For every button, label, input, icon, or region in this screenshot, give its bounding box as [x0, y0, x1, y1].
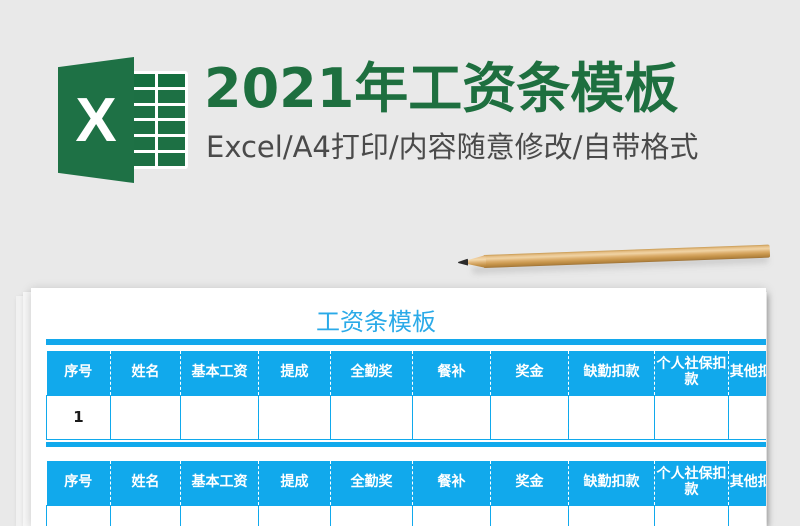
salary-strip-1: 序号 姓名 基本工资 提成 全勤奖 餐补 奖金 缺勤扣款 个人社保扣款 其他扣款… — [46, 351, 766, 447]
salary-strip-2: 序号 姓名 基本工资 提成 全勤奖 餐补 奖金 缺勤扣款 个人社保扣款 其他扣款 — [46, 461, 766, 526]
wooden-pencil — [458, 237, 771, 274]
column-header-seq: 序号 — [47, 461, 111, 505]
salary-table: 序号 姓名 基本工资 提成 全勤奖 餐补 奖金 缺勤扣款 个人社保扣款 其他扣款… — [46, 351, 766, 440]
pencil-tip — [458, 259, 468, 266]
excel-logo-cell — [158, 74, 186, 87]
cell-bonus[interactable] — [491, 505, 569, 526]
column-header-meal-allowance: 餐补 — [413, 461, 491, 505]
strip-divider-rule — [46, 442, 766, 447]
column-header-attendance-bonus: 全勤奖 — [331, 351, 413, 395]
cell-meal-allowance[interactable] — [413, 395, 491, 439]
document-page: 工资条模板 序号 姓名 基本工资 提成 全勤奖 餐补 奖金 缺勤扣款 个人社 — [31, 288, 766, 526]
column-header-name: 姓名 — [111, 461, 181, 505]
cell-base-salary[interactable] — [181, 395, 259, 439]
cell-absence-deduction[interactable] — [569, 395, 655, 439]
column-header-bonus: 奖金 — [491, 461, 569, 505]
column-header-absence-deduction: 缺勤扣款 — [569, 461, 655, 505]
column-header-base-salary: 基本工资 — [181, 351, 259, 395]
excel-logo-letter: X — [58, 57, 134, 183]
column-header-name: 姓名 — [111, 351, 181, 395]
banner-subtitle: Excel/A4打印/内容随意修改/自带格式 — [206, 133, 698, 162]
banner-title: 2021年工资条模板 — [204, 62, 678, 116]
salary-table: 序号 姓名 基本工资 提成 全勤奖 餐补 奖金 缺勤扣款 个人社保扣款 其他扣款 — [46, 461, 766, 526]
column-header-social-insurance-deduction: 个人社保扣款 — [655, 351, 729, 395]
cell-attendance-bonus[interactable] — [331, 505, 413, 526]
excel-logo-cell — [158, 137, 186, 150]
cell-social-insurance-deduction[interactable] — [655, 395, 729, 439]
column-header-commission: 提成 — [259, 461, 331, 505]
cell-bonus[interactable] — [491, 395, 569, 439]
excel-logo-icon: X — [58, 57, 194, 183]
promo-banner: X 2021年工资条模板 Excel/A4打印/内容随意修改/自带格式 — [0, 0, 800, 240]
excel-logo-cell — [158, 90, 186, 103]
column-header-base-salary: 基本工资 — [181, 461, 259, 505]
column-header-other-deduction: 其他扣款 — [729, 461, 767, 505]
cell-commission[interactable] — [259, 505, 331, 526]
cell-other-deduction[interactable] — [729, 395, 767, 439]
cell-other-deduction[interactable] — [729, 505, 767, 526]
column-header-other-deduction: 其他扣款 — [729, 351, 767, 395]
excel-logo-cell — [158, 121, 186, 134]
column-header-bonus: 奖金 — [491, 351, 569, 395]
cell-base-salary[interactable] — [181, 505, 259, 526]
cell-commission[interactable] — [259, 395, 331, 439]
cell-seq[interactable] — [47, 505, 111, 526]
cell-name[interactable] — [111, 395, 181, 439]
column-header-seq: 序号 — [47, 351, 111, 395]
table-row: 1 — [47, 395, 767, 439]
cell-name[interactable] — [111, 505, 181, 526]
excel-logo-cell — [158, 106, 186, 119]
cell-absence-deduction[interactable] — [569, 505, 655, 526]
column-header-social-insurance-deduction: 个人社保扣款 — [655, 461, 729, 505]
column-header-attendance-bonus: 全勤奖 — [331, 461, 413, 505]
document-title: 工资条模板 — [31, 302, 721, 337]
table-header-row: 序号 姓名 基本工资 提成 全勤奖 餐补 奖金 缺勤扣款 个人社保扣款 其他扣款 — [47, 461, 767, 505]
excel-logo-cell — [158, 153, 186, 166]
cell-meal-allowance[interactable] — [413, 505, 491, 526]
column-header-absence-deduction: 缺勤扣款 — [569, 351, 655, 395]
column-header-commission: 提成 — [259, 351, 331, 395]
column-header-meal-allowance: 餐补 — [413, 351, 491, 395]
cell-seq[interactable]: 1 — [47, 395, 111, 439]
document-title-rule — [46, 339, 766, 345]
table-row — [47, 505, 767, 526]
cell-attendance-bonus[interactable] — [331, 395, 413, 439]
table-header-row: 序号 姓名 基本工资 提成 全勤奖 餐补 奖金 缺勤扣款 个人社保扣款 其他扣款 — [47, 351, 767, 395]
cell-social-insurance-deduction[interactable] — [655, 505, 729, 526]
